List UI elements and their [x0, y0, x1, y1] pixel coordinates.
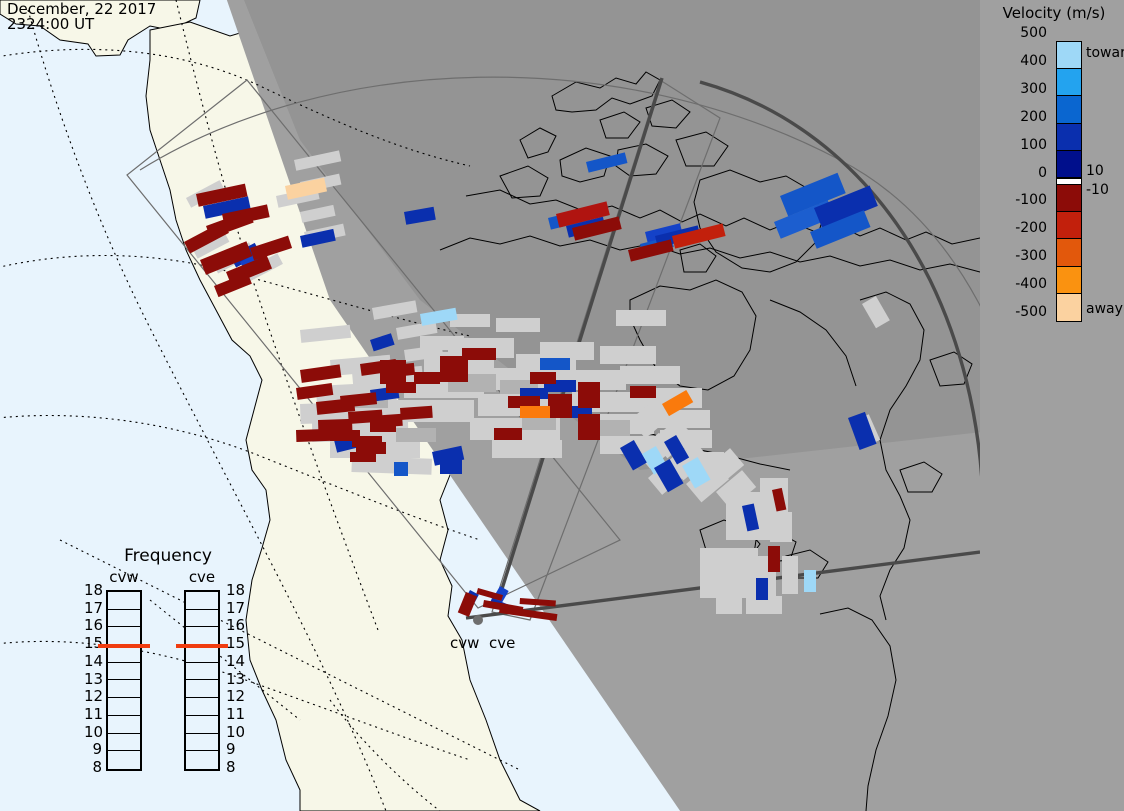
frequency-cell	[108, 698, 140, 716]
frequency-cell	[108, 680, 140, 698]
frequency-tick-cvw-13: 13	[84, 672, 102, 687]
site-label-cve: cve	[489, 634, 515, 652]
frequency-tick-cve-8: 8	[226, 760, 236, 775]
colorbar-segment-away-4	[1057, 294, 1081, 321]
colorbar-zero-upper-label: 10	[1086, 164, 1104, 178]
frequency-bar-cve	[184, 590, 220, 771]
timestamp-time: 2324:00 UT	[7, 17, 156, 32]
colorbar-tick--200: -200	[1015, 221, 1047, 235]
colorbar-tick-100: 100	[1020, 138, 1047, 152]
colorbar-tick--400: -400	[1015, 277, 1047, 291]
colorbar-tick-0: 0	[1038, 166, 1047, 180]
frequency-tick-cvw-14: 14	[84, 654, 102, 669]
frequency-tick-cvw-16: 16	[84, 618, 102, 633]
frequency-tick-cve-16: 16	[226, 618, 245, 633]
frequency-cell	[186, 698, 218, 716]
colorbar-segment-away-3	[1057, 267, 1081, 294]
colorbar-strip	[1056, 41, 1082, 322]
frequency-tick-cve-18: 18	[226, 583, 245, 598]
frequency-cell	[186, 610, 218, 628]
frequency-cell	[186, 627, 218, 645]
frequency-tick-cve-11: 11	[226, 707, 245, 722]
frequency-tick-cvw-12: 12	[84, 689, 102, 704]
frequency-bar-cvw	[106, 590, 142, 771]
frequency-tick-cvw-8: 8	[84, 760, 102, 775]
colorbar-tick--500: -500	[1015, 305, 1047, 319]
frequency-cell	[108, 610, 140, 628]
radar-site-marker	[473, 615, 483, 625]
colorbar-segment-toward-3	[1057, 124, 1081, 151]
frequency-cell	[186, 663, 218, 681]
frequency-tick-cve-13: 13	[226, 672, 245, 687]
colorbar-tick--100: -100	[1015, 193, 1047, 207]
frequency-tick-cvw-10: 10	[84, 725, 102, 740]
colorbar-tick-300: 300	[1020, 82, 1047, 96]
site-label-cvw: cvw	[450, 634, 479, 652]
timestamp: December, 22 2017 2324:00 UT	[7, 2, 156, 32]
colorbar-segment-toward-1	[1057, 69, 1081, 96]
colorbar-zero-lower-label: -10	[1086, 183, 1109, 197]
superdarn-map-figure: December, 22 2017 2324:00 UT cvw cve Fre…	[0, 0, 1124, 811]
colorbar-segment-toward-2	[1057, 96, 1081, 123]
frequency-tick-cvw-11: 11	[84, 707, 102, 722]
colorbar-segment-away-0	[1057, 185, 1081, 212]
frequency-tick-cvw-9: 9	[84, 742, 102, 757]
colorbar-zero-band	[1057, 178, 1081, 185]
frequency-cell	[186, 680, 218, 698]
colorbar-tick--300: -300	[1015, 249, 1047, 263]
frequency-tick-cve-10: 10	[226, 725, 245, 740]
velocity-colorbar: Velocity (m/s) 5004003002001000-100-200-…	[980, 0, 1124, 811]
frequency-title: Frequency	[88, 546, 248, 566]
frequency-tick-cve-9: 9	[226, 742, 236, 757]
frequency-cell	[108, 716, 140, 734]
colorbar-toward-label: toward	[1086, 46, 1124, 60]
frequency-cell	[108, 663, 140, 681]
frequency-cell	[186, 592, 218, 610]
frequency-cell	[186, 751, 218, 769]
frequency-cell	[108, 627, 140, 645]
frequency-tick-cvw-17: 17	[84, 601, 102, 616]
colorbar-segment-toward-4	[1057, 151, 1081, 178]
frequency-column-label-cvw: cvw	[94, 568, 154, 586]
frequency-cell	[108, 734, 140, 752]
frequency-marker-cve	[176, 644, 228, 648]
frequency-column-label-cve: cve	[172, 568, 232, 586]
colorbar-segment-toward-0	[1057, 42, 1081, 69]
frequency-cell	[108, 751, 140, 769]
colorbar-tick-400: 400	[1020, 54, 1047, 68]
colorbar-segment-away-1	[1057, 212, 1081, 239]
frequency-tick-cve-12: 12	[226, 689, 245, 704]
colorbar-tick-200: 200	[1020, 110, 1047, 124]
colorbar-tick-500: 500	[1020, 26, 1047, 40]
frequency-tick-cve-15: 15	[226, 636, 245, 651]
frequency-cell	[108, 592, 140, 610]
colorbar-away-label: away	[1086, 302, 1123, 316]
colorbar-segment-away-2	[1057, 239, 1081, 266]
frequency-tick-cve-14: 14	[226, 654, 245, 669]
frequency-tick-cvw-18: 18	[84, 583, 102, 598]
frequency-marker-cvw	[98, 644, 150, 648]
frequency-cell	[186, 734, 218, 752]
frequency-legend: Frequency cvw 18171615141312111098 cve 1…	[88, 546, 248, 786]
colorbar-title: Velocity (m/s)	[984, 4, 1124, 22]
frequency-tick-cve-17: 17	[226, 601, 245, 616]
frequency-cell	[186, 716, 218, 734]
